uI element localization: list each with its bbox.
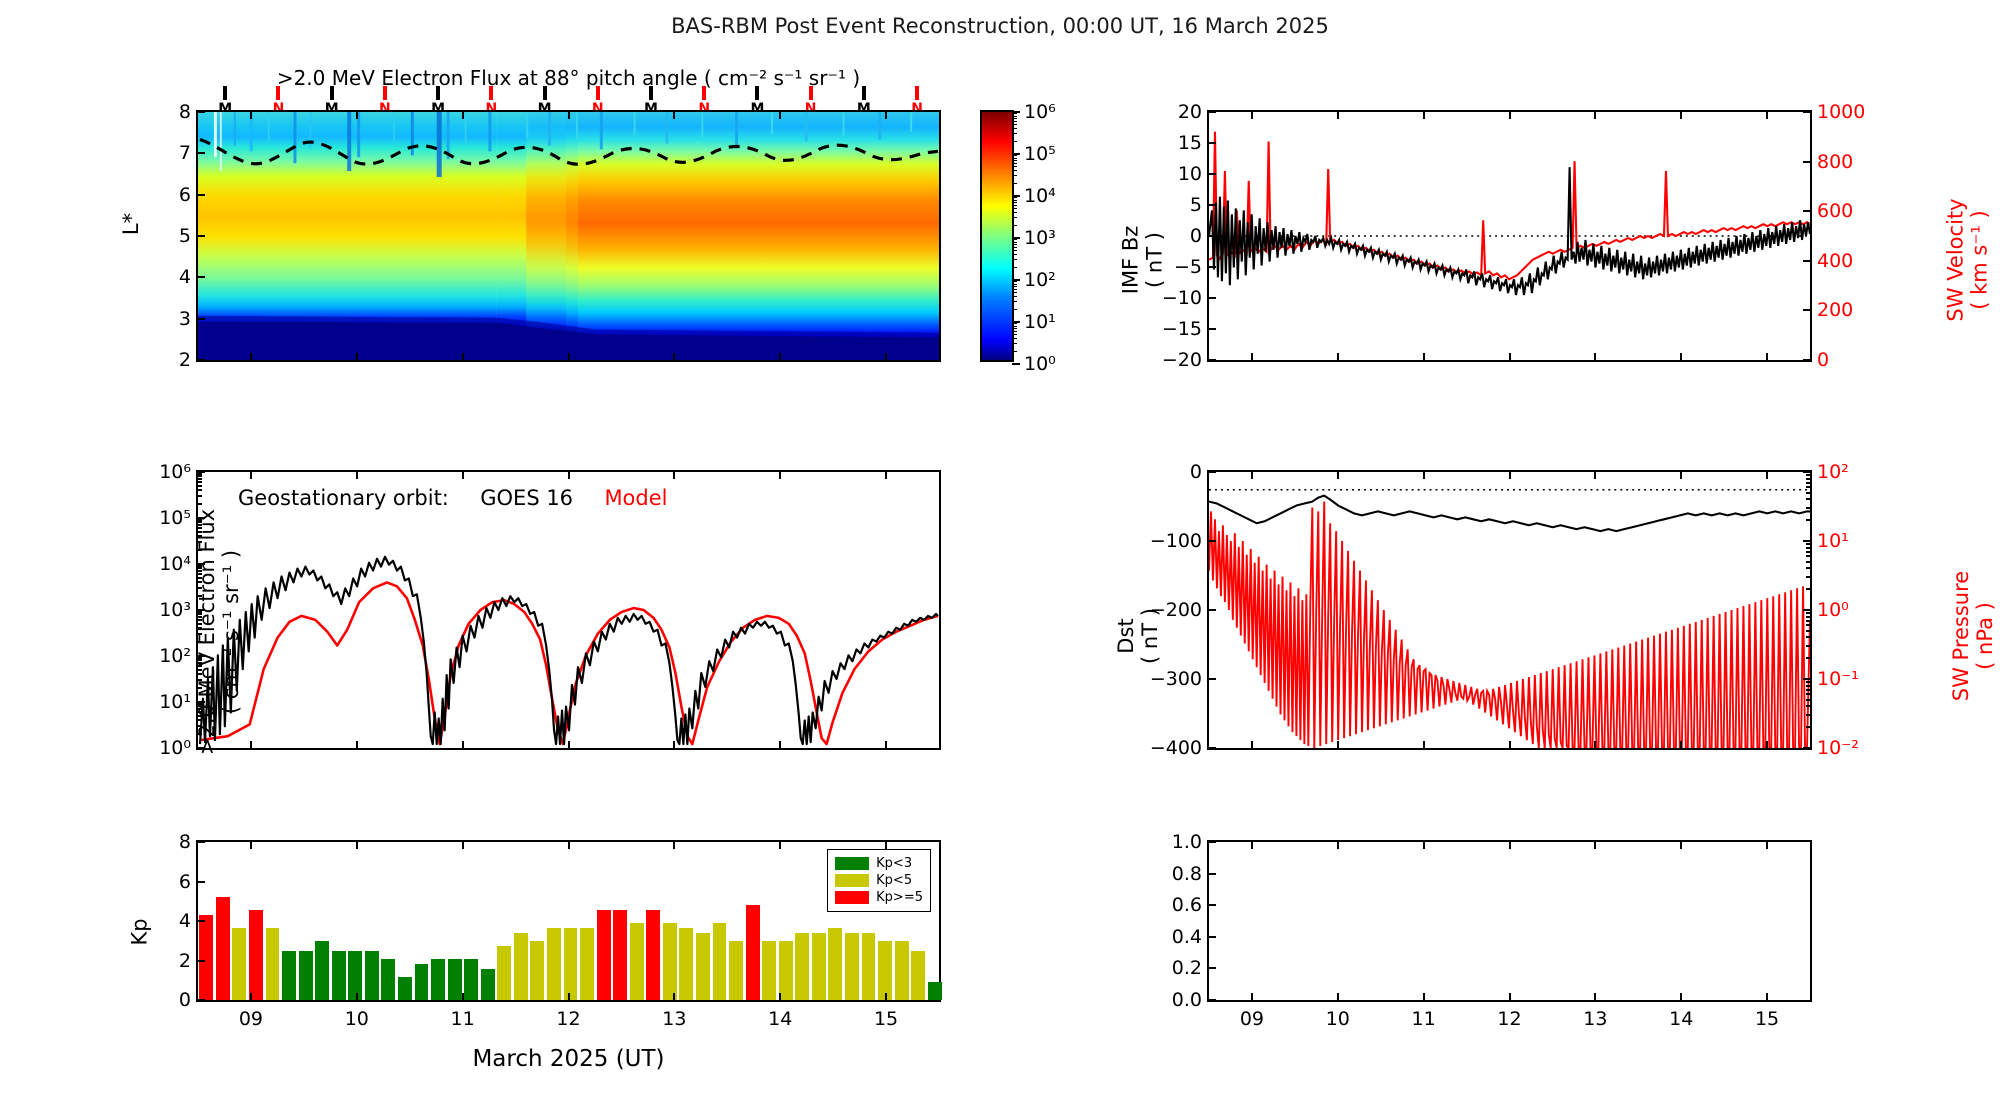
kp-ylabel-line1: Kp	[128, 918, 152, 945]
imf-y-tick	[1209, 111, 1216, 113]
geostationary-flux-axes: Geostationary orbit: GOES 16 Model 10⁶10…	[196, 470, 941, 750]
empty-y-tick	[1209, 873, 1216, 875]
dst-x-tick-top	[1251, 472, 1253, 479]
goes-y-minor-tick	[198, 473, 202, 475]
goes-x-tick-top	[779, 472, 781, 479]
kp-bar	[729, 941, 743, 1000]
empty-y-label: 0.2	[1172, 957, 1202, 979]
colorbar-minor-tick	[1012, 175, 1017, 176]
kp-x-tick	[779, 993, 781, 1000]
mlt-marker-tick	[755, 86, 759, 100]
kp-x-tick	[568, 993, 570, 1000]
goes-y-label: 10⁴	[159, 553, 191, 575]
kp-bar	[613, 910, 627, 1000]
goes-y-minor-tick	[198, 489, 202, 491]
mlt-marker-tick	[383, 86, 387, 100]
imf-y-label: −20	[1162, 349, 1202, 371]
imf-x-tick	[1594, 353, 1596, 360]
swp-y-tick	[1803, 540, 1810, 542]
dst-x-tick	[1509, 741, 1511, 748]
swp-y-minor-tick	[1806, 588, 1810, 590]
swvelocity-ylabel-line2: ( km s⁻¹ )	[1968, 198, 1992, 321]
spectrogram-ylabel: L*	[119, 213, 143, 235]
spectrogram-x-tick-top	[779, 112, 781, 119]
kp-legend-swatch	[835, 874, 869, 887]
kp-bar	[448, 959, 462, 1000]
mlt-marker-tick	[809, 86, 813, 100]
spectrogram-y-tick	[198, 111, 205, 113]
empty-y-label: 0.0	[1172, 989, 1202, 1011]
empty-y-label: 0.6	[1172, 894, 1202, 916]
imf-x-tick	[1766, 353, 1768, 360]
goes-x-tick-top	[250, 472, 252, 479]
dst-x-tick-top	[1423, 472, 1425, 479]
kp-bar	[232, 928, 246, 1000]
mlt-marker-tick	[862, 86, 866, 100]
goes-y-minor-tick	[198, 478, 202, 480]
goes-y-minor-tick	[198, 503, 202, 505]
kp-bar	[580, 928, 594, 1000]
kp-bar	[431, 959, 445, 1000]
colorbar-minor-tick	[1012, 343, 1017, 344]
kp-y-tick	[198, 960, 205, 962]
spectrogram-x-tick-top	[885, 112, 887, 119]
colorbar-minor-tick	[1012, 286, 1017, 287]
imf-ylabel: IMF Bz( nT )	[1118, 226, 1166, 295]
goes-x-tick	[462, 741, 464, 748]
dst-y-label: −300	[1150, 668, 1202, 690]
colorbar-minor-tick	[1012, 267, 1017, 268]
colorbar-minor-tick	[1012, 158, 1017, 159]
colorbar-minor-tick	[1012, 292, 1017, 293]
swp-y-minor-tick	[1806, 492, 1810, 494]
empty-axes: 1.00.80.60.40.20.009101112131415	[1207, 840, 1812, 1002]
empty-y-label: 0.8	[1172, 863, 1202, 885]
goes-x-tick	[356, 741, 358, 748]
spectrogram-x-tick-top	[673, 112, 675, 119]
kp-x-label: 11	[451, 1008, 475, 1030]
colorbar-minor-tick	[1012, 296, 1017, 297]
spectrogram-y-tick	[198, 276, 205, 278]
swp-y-tick	[1803, 609, 1810, 611]
kp-bar	[481, 969, 495, 1000]
imf-y-tick	[1209, 266, 1216, 268]
kp-x-label: 13	[662, 1008, 686, 1030]
mlt-marker-tick	[915, 86, 919, 100]
colorbar-label: 10⁶	[1024, 101, 1056, 123]
kp-bar	[646, 910, 660, 1000]
swv-y-tick	[1803, 359, 1810, 361]
kp-bar	[878, 941, 892, 1000]
colorbar-minor-tick	[1012, 334, 1017, 335]
colorbar-minor-tick	[1012, 247, 1017, 248]
dst-x-tick-top	[1766, 472, 1768, 479]
colorbar-label: 10³	[1024, 227, 1056, 249]
swp-y-minor-tick	[1806, 478, 1810, 480]
colorbar-label: 10⁰	[1024, 353, 1056, 375]
kp-bar	[828, 928, 842, 1000]
colorbar-minor-tick	[1012, 309, 1017, 310]
swvelocity-ylabel-line1: SW Velocity	[1944, 198, 1968, 321]
spectrogram-y-tick	[198, 359, 205, 361]
empty-x-label: 10	[1326, 1008, 1350, 1030]
colorbar-minor-tick	[1012, 170, 1017, 171]
colorbar-minor-tick	[1012, 121, 1017, 122]
colorbar-minor-tick	[1012, 259, 1017, 260]
imf-y-label: 0	[1190, 225, 1202, 247]
spectrogram-y-label: 7	[179, 142, 191, 164]
spectrogram-y-label: 3	[179, 308, 191, 330]
kp-y-label: 8	[179, 831, 191, 853]
kp-bar	[630, 923, 644, 1000]
dst-y-tick	[1209, 609, 1216, 611]
kp-legend-row: Kp<3	[835, 855, 923, 872]
kp-bar	[746, 905, 760, 1000]
kp-axes: Kp<3Kp<5Kp>=5 8642009101112131415	[196, 840, 941, 1002]
kp-bar	[497, 946, 511, 1000]
kp-legend-label: Kp<5	[876, 872, 912, 889]
goes-y-minor-tick	[198, 481, 202, 483]
goes-y-minor-tick	[198, 495, 202, 497]
kp-x-tick-top	[673, 842, 675, 849]
colorbar-minor-tick	[1012, 328, 1017, 329]
swp-y-minor-tick	[1806, 616, 1810, 618]
mlt-marker-tick	[489, 86, 493, 100]
empty-x-tick	[1251, 993, 1253, 1000]
kp-legend-swatch	[835, 891, 869, 904]
kp-bar	[911, 951, 925, 1000]
empty-x-tick-top	[1423, 842, 1425, 849]
goes-y-minor-tick	[198, 485, 202, 487]
dst-ylabel-line2: ( nT )	[1138, 608, 1162, 664]
goes-y-label: 10²	[159, 645, 191, 667]
swp-y-minor-tick	[1806, 561, 1810, 563]
kp-x-label: 12	[556, 1008, 580, 1030]
imf-y-tick	[1209, 235, 1216, 237]
dst-ylabel-line1: Dst	[1114, 608, 1138, 664]
imf-y-tick	[1209, 359, 1216, 361]
swp-y-minor-tick	[1806, 726, 1810, 728]
goes-x-tick	[250, 741, 252, 748]
colorbar-minor-tick	[1012, 197, 1017, 198]
colorbar-label: 10¹	[1024, 311, 1056, 333]
empty-y-tick	[1209, 904, 1216, 906]
colorbar-minor-tick	[1012, 155, 1017, 156]
goes-x-tick-top	[885, 472, 887, 479]
imf-x-tick-top	[1766, 112, 1768, 119]
colorbar-minor-tick	[1012, 183, 1017, 184]
swp-y-tick	[1803, 678, 1810, 680]
spectrogram-x-tick-top	[462, 112, 464, 119]
geostationary-flux-lines	[198, 472, 939, 748]
kp-x-label: 10	[345, 1008, 369, 1030]
kp-y-label: 6	[179, 871, 191, 893]
swv-y-tick	[1803, 111, 1810, 113]
colorbar-minor-tick	[1012, 244, 1017, 245]
empty-y-label: 1.0	[1172, 831, 1202, 853]
empty-x-tick-top	[1509, 842, 1511, 849]
kp-x-tick-top	[779, 842, 781, 849]
empty-x-label: 12	[1497, 1008, 1521, 1030]
swv-y-label: 0	[1817, 349, 1829, 371]
colorbar-minor-tick	[1012, 163, 1017, 164]
kp-bar	[713, 923, 727, 1000]
imf-y-tick	[1209, 297, 1216, 299]
spectrogram-x-tick	[885, 353, 887, 360]
swv-y-tick	[1803, 161, 1810, 163]
colorbar-minor-tick	[1012, 124, 1017, 125]
colorbar-minor-tick	[1012, 326, 1017, 327]
kp-x-tick	[885, 993, 887, 1000]
kp-y-tick	[198, 881, 205, 883]
colorbar-label: 10⁴	[1024, 185, 1056, 207]
colorbar-label: 10²	[1024, 269, 1056, 291]
dst-y-tick	[1209, 678, 1216, 680]
kp-bar	[381, 959, 395, 1000]
empty-x-label: 15	[1755, 1008, 1779, 1030]
swp-y-minor-tick	[1806, 474, 1810, 476]
imf-x-tick	[1423, 353, 1425, 360]
spectrogram-y-label: 6	[179, 184, 191, 206]
dst-x-tick	[1423, 741, 1425, 748]
swp-y-minor-tick	[1806, 630, 1810, 632]
swv-y-label: 400	[1817, 250, 1853, 272]
kp-bar	[696, 933, 710, 1000]
colorbar-minor-tick	[1012, 128, 1017, 129]
empty-x-label: 09	[1240, 1008, 1264, 1030]
swp-y-minor-tick	[1806, 705, 1810, 707]
dst-x-tick	[1680, 741, 1682, 748]
colorbar-minor-tick	[1012, 208, 1017, 209]
empty-y-tick	[1209, 841, 1216, 843]
kp-bar	[332, 951, 346, 1000]
swp-y-minor-tick	[1806, 551, 1810, 553]
colorbar-minor-tick	[1012, 166, 1017, 167]
spectrogram-y-label: 2	[179, 349, 191, 371]
kp-bar	[795, 933, 809, 1000]
empty-x-tick	[1337, 993, 1339, 1000]
spectrogram-x-tick-top	[568, 112, 570, 119]
spectrogram-axes: 8765432	[196, 110, 941, 362]
mlt-marker-tick	[702, 86, 706, 100]
colorbar-minor-tick	[1012, 118, 1017, 119]
dst-x-tick-top	[1509, 472, 1511, 479]
goes-y-label: 10¹	[159, 691, 191, 713]
empty-x-label: 11	[1412, 1008, 1436, 1030]
dst-y-tick	[1209, 471, 1216, 473]
kp-bar	[779, 941, 793, 1000]
goes-y-label: 10⁶	[159, 461, 191, 483]
imf-x-tick	[1509, 353, 1511, 360]
kp-bar	[762, 941, 776, 1000]
spectrogram-y-tick	[198, 152, 205, 154]
spectrogram-image	[198, 112, 939, 360]
dst-x-tick-top	[1337, 472, 1339, 479]
kp-legend: Kp<3Kp<5Kp>=5	[827, 849, 931, 912]
colorbar-minor-tick	[1012, 141, 1017, 142]
mlt-marker-tick	[596, 86, 600, 100]
goes-x-tick	[885, 741, 887, 748]
imf-y-label: 10	[1178, 163, 1202, 185]
kp-bar	[597, 910, 611, 1000]
swp-y-minor-tick	[1806, 486, 1810, 488]
swp-y-minor-tick	[1806, 519, 1810, 521]
imf-x-tick	[1337, 353, 1339, 360]
empty-x-tick-top	[1337, 842, 1339, 849]
kp-bar	[365, 951, 379, 1000]
kp-x-tick-top	[250, 842, 252, 849]
flux-colorbar: 10⁶10⁵10⁴10³10²10¹10⁰	[980, 110, 1014, 362]
kp-bar	[398, 977, 412, 1000]
swv-y-tick	[1803, 260, 1810, 262]
colorbar-minor-tick	[1012, 351, 1017, 352]
dst-x-tick	[1594, 741, 1596, 748]
dst-sw-pressure-lines	[1209, 472, 1810, 748]
swp-y-minor-tick	[1806, 543, 1810, 545]
colorbar-minor-tick	[1012, 133, 1017, 134]
swv-y-tick	[1803, 309, 1810, 311]
colorbar-tick	[1012, 363, 1020, 365]
imf-x-tick-top	[1423, 112, 1425, 119]
imf-y-label: 15	[1178, 132, 1202, 154]
spectrogram-y-tick	[198, 235, 205, 237]
kp-bar	[249, 910, 263, 1000]
imf-ylabel-line2: ( nT )	[1142, 226, 1166, 295]
dst-axes: 0−100−200−300−40010²10¹10⁰10⁻¹10⁻²	[1207, 470, 1812, 750]
kp-x-tick	[356, 993, 358, 1000]
empty-x-label: 13	[1583, 1008, 1607, 1030]
imf-x-tick-top	[1251, 112, 1253, 119]
imf-x-tick-top	[1337, 112, 1339, 119]
swp-y-minor-tick	[1806, 624, 1810, 626]
colorbar-minor-tick	[1012, 281, 1017, 282]
dst-x-tick	[1766, 741, 1768, 748]
kp-bar	[547, 928, 561, 1000]
goes-x-tick-top	[673, 472, 675, 479]
spectrogram-x-tick-top	[250, 112, 252, 119]
kp-bar	[199, 915, 213, 1000]
swp-y-label: 10⁻¹	[1817, 668, 1859, 690]
x-axis-title: March 2025 (UT)	[196, 1046, 941, 1072]
mlt-marker-tick	[543, 86, 547, 100]
kp-legend-label: Kp>=5	[876, 889, 923, 906]
swp-y-minor-tick	[1806, 576, 1810, 578]
colorbar-minor-tick	[1012, 284, 1017, 285]
swp-y-minor-tick	[1806, 714, 1810, 716]
kp-bar	[514, 933, 528, 1000]
kp-bar	[564, 928, 578, 1000]
swv-y-label: 1000	[1817, 101, 1865, 123]
colorbar-minor-tick	[1012, 225, 1017, 226]
swp-y-minor-tick	[1806, 507, 1810, 509]
imf-y-label: 20	[1178, 101, 1202, 123]
imf-x-tick-top	[1680, 112, 1682, 119]
mlt-marker-tick	[223, 86, 227, 100]
figure-title: BAS-RBM Post Event Reconstruction, 00:00…	[0, 14, 2000, 38]
colorbar-minor-tick	[1012, 331, 1017, 332]
goes-x-tick-top	[356, 472, 358, 479]
kp-y-label: 0	[179, 989, 191, 1011]
imf-y-label: −10	[1162, 287, 1202, 309]
colorbar-minor-tick	[1012, 239, 1017, 240]
empty-x-tick	[1766, 993, 1768, 1000]
swp-y-minor-tick	[1806, 636, 1810, 638]
goes-x-tick	[568, 741, 570, 748]
dst-x-tick	[1337, 741, 1339, 748]
kp-legend-row: Kp>=5	[835, 889, 923, 906]
kp-x-label: 15	[874, 1008, 898, 1030]
kp-ylabel: Kp	[128, 918, 152, 945]
kp-bar	[464, 959, 478, 1000]
empty-x-tick-top	[1766, 842, 1768, 849]
swp-y-label: 10²	[1817, 461, 1849, 483]
colorbar-minor-tick	[1012, 301, 1017, 302]
kp-legend-swatch	[835, 857, 869, 870]
kp-x-label: 09	[239, 1008, 263, 1030]
imf-y-label: 5	[1190, 194, 1202, 216]
swp-y-minor-tick	[1806, 567, 1810, 569]
spectrogram-ylabel-line1: L*	[119, 213, 143, 235]
kp-x-tick	[250, 993, 252, 1000]
imf-y-tick	[1209, 204, 1216, 206]
goes-y-minor-tick	[198, 475, 202, 477]
goes-ylabel-line1: >2.0 MeV Electron Flux	[195, 509, 219, 755]
empty-y-tick	[1209, 936, 1216, 938]
imf-y-tick	[1209, 328, 1216, 330]
swp-y-minor-tick	[1806, 693, 1810, 695]
spectrogram-y-tick	[198, 318, 205, 320]
kp-bar	[530, 941, 544, 1000]
colorbar-minor-tick	[1012, 254, 1017, 255]
dst-y-tick	[1209, 747, 1216, 749]
swvelocity-ylabel: SW Velocity( km s⁻¹ )	[1944, 198, 1992, 321]
swpressure-ylabel-line1: SW Pressure	[1949, 571, 1973, 701]
spectrogram-x-tick	[568, 353, 570, 360]
kp-x-tick-top	[462, 842, 464, 849]
kp-bar	[266, 928, 280, 1000]
kp-legend-label: Kp<3	[876, 855, 912, 872]
swp-y-minor-tick	[1806, 645, 1810, 647]
empty-y-tick	[1209, 967, 1216, 969]
goes-ylabel-line2: ( cm⁻² s⁻¹ sr⁻¹ )	[219, 509, 243, 755]
swp-y-minor-tick	[1806, 547, 1810, 549]
swv-y-tick	[1803, 210, 1810, 212]
kp-bar	[895, 941, 909, 1000]
spectrogram-y-label: 5	[179, 225, 191, 247]
spectrogram-y-label: 4	[179, 266, 191, 288]
colorbar-minor-tick	[1012, 160, 1017, 161]
empty-y-label: 0.4	[1172, 926, 1202, 948]
swp-y-minor-tick	[1806, 482, 1810, 484]
swp-y-minor-tick	[1806, 657, 1810, 659]
imf-x-tick	[1251, 353, 1253, 360]
swv-y-label: 600	[1817, 200, 1853, 222]
spectrogram-x-tick	[779, 353, 781, 360]
dst-y-tick	[1209, 540, 1216, 542]
mlt-marker-tick	[330, 86, 334, 100]
goes-y-label: 10⁵	[159, 507, 191, 529]
colorbar-minor-tick	[1012, 113, 1017, 114]
imf-x-tick	[1680, 353, 1682, 360]
spectrogram-x-tick-top	[356, 112, 358, 119]
goes-x-tick	[779, 741, 781, 748]
kp-x-tick-top	[568, 842, 570, 849]
kp-y-tick	[198, 920, 205, 922]
empty-x-label: 14	[1669, 1008, 1693, 1030]
mlt-marker-tick	[436, 86, 440, 100]
spectrogram-y-tick	[198, 194, 205, 196]
mlt-marker-tick	[276, 86, 280, 100]
